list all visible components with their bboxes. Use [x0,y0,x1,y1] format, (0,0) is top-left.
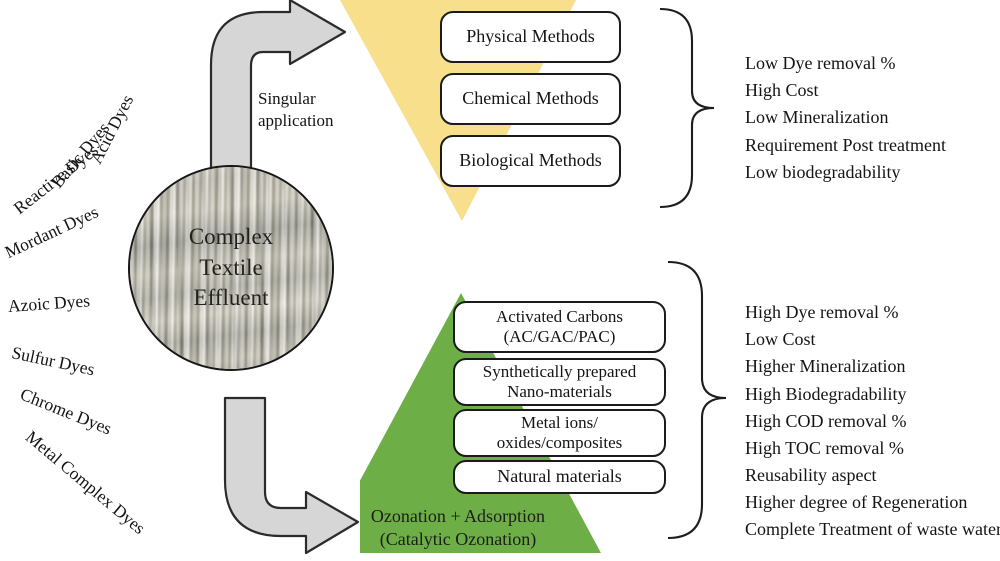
diagram-canvas: Complex Textile Effluent Acid DyesBasic … [0,0,1000,561]
method-box-biological-label: Biological Methods [459,150,602,172]
ozonation-caption-line-1: Ozonation + Adsorption [371,506,545,526]
outcome-item: High Dye removal % [745,299,1000,326]
combined-approach-label: Combined Approach [268,414,339,458]
outcome-item: Requirement Post treatment [745,132,946,159]
method-box-metal-ions[interactable]: Metal ions/ oxides/composites [453,409,666,457]
method-box-metal-ions-line-1: Metal ions/ [521,413,598,432]
method-box-nano-materials-line-2: Nano-materials [507,382,612,401]
method-box-nano-materials[interactable]: Synthetically prepared Nano-materials [453,358,666,406]
method-box-activated-carbons-line-2: (AC/GAC/PAC) [504,327,616,346]
outcome-item: High Cost [745,77,946,104]
combined-outcomes-brace [668,262,726,538]
singular-outcomes-list: Low Dye removal %High CostLow Mineraliza… [745,50,946,186]
method-box-biological[interactable]: Biological Methods [440,135,621,187]
method-box-chemical-label: Chemical Methods [462,88,598,110]
outcome-item: Low biodegradability [745,159,946,186]
method-box-physical-label: Physical Methods [466,26,595,48]
dye-type-label: Metal Complex Dyes [21,426,149,538]
singular-outcomes-brace [660,9,714,207]
dye-type-label: Azoic Dyes [7,290,90,317]
effluent-label-line-1: Complex [189,224,273,249]
singular-application-label-line-1: Singular [258,89,316,108]
dye-type-label: Sulfur Dyes [10,342,97,380]
ozonation-adsorption-caption: Ozonation + Adsorption (Catalytic Ozonat… [338,505,578,551]
ozonation-caption-line-2: (Catalytic Ozonation) [380,529,536,549]
outcome-item: High Biodegradability [745,381,1000,408]
outcome-item: Low Dye removal % [745,50,946,77]
method-box-natural-materials-label: Natural materials [497,466,621,488]
combined-approach-label-line-2: Approach [268,437,335,456]
outcome-item: Low Cost [745,326,1000,353]
method-box-activated-carbons-line-1: Activated Carbons [496,307,623,326]
method-box-natural-materials[interactable]: Natural materials [453,460,666,494]
outcome-item: High COD removal % [745,408,1000,435]
method-box-activated-carbons[interactable]: Activated Carbons (AC/GAC/PAC) [453,301,666,353]
singular-application-label-line-2: application [258,111,334,130]
combined-outcomes-list: High Dye removal %Low CostHigher Mineral… [745,299,1000,544]
outcome-item: Higher degree of Regeneration [745,489,1000,516]
method-box-physical[interactable]: Physical Methods [440,11,621,63]
effluent-label-line-3: Effluent [194,285,269,310]
outcome-item: Low Mineralization [745,104,946,131]
method-box-nano-materials-line-1: Synthetically prepared [483,362,636,381]
outcome-item: Reusability aspect [745,462,1000,489]
outcome-item: Higher Mineralization [745,353,1000,380]
outcome-item: Complete Treatment of waste water [745,516,1000,543]
effluent-label-line-2: Textile [199,255,263,280]
complex-textile-effluent-circle: Complex Textile Effluent [128,165,334,371]
outcome-item: High TOC removal % [745,435,1000,462]
method-box-metal-ions-line-2: oxides/composites [497,433,623,452]
method-box-chemical[interactable]: Chemical Methods [440,73,621,125]
singular-application-label: Singular application [258,88,334,132]
effluent-label: Complex Textile Effluent [189,222,273,314]
combined-approach-label-line-1: Combined [268,415,339,434]
